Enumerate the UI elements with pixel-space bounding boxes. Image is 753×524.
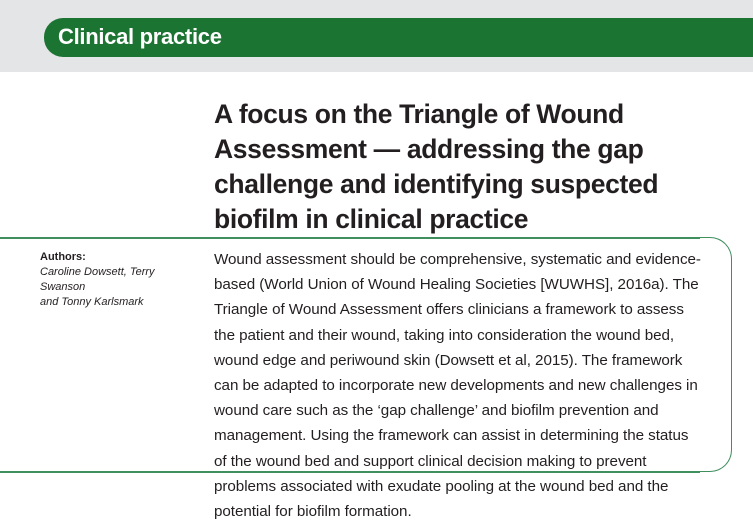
- section-header-label: Clinical practice: [58, 24, 222, 50]
- abstract-text: Wound assessment should be comprehensive…: [214, 247, 704, 524]
- abstract-rule-top: [0, 237, 700, 239]
- article-title: A focus on the Triangle of Wound Assessm…: [214, 97, 714, 237]
- authors-names-line-2: and Tonny Karlsmark: [40, 295, 200, 310]
- authors-names-line-1: Caroline Dowsett, Terry Swanson: [40, 265, 200, 295]
- authors-block: Authors: Caroline Dowsett, Terry Swanson…: [40, 250, 200, 310]
- authors-label: Authors:: [40, 250, 200, 265]
